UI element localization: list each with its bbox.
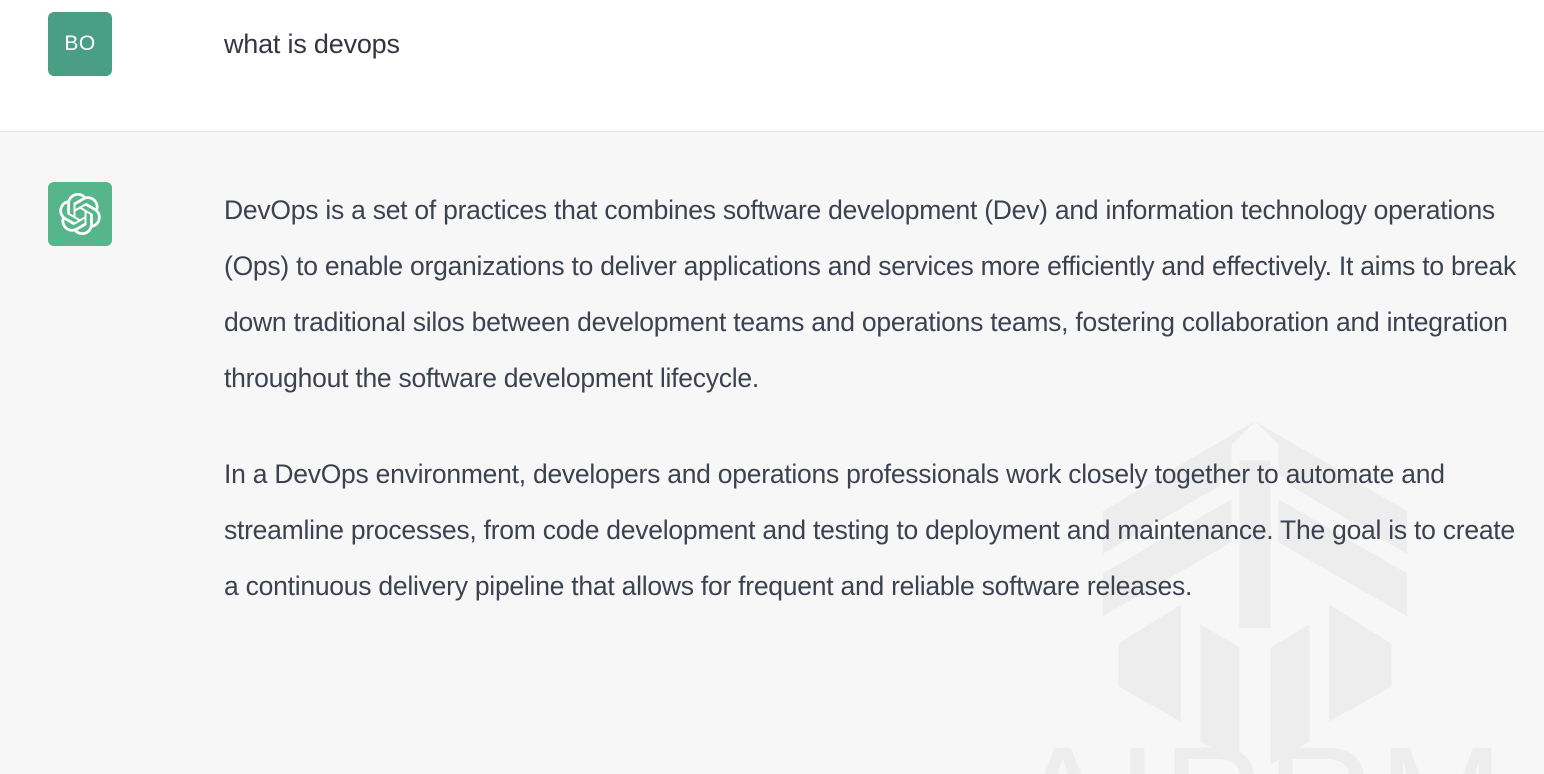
assistant-paragraph-1: DevOps is a set of practices that combin… <box>224 182 1520 406</box>
user-initials-avatar: BO <box>48 12 112 76</box>
avatar-slot-user: BO <box>0 12 112 76</box>
user-message-content: what is devops <box>112 12 1544 60</box>
user-message-text: what is devops <box>224 12 1520 60</box>
chat-conversation-view: BO what is devops DevOps is a set of pra… <box>0 0 1544 774</box>
avatar-slot-assistant <box>0 182 112 246</box>
aiprm-wordmark: AIPRM <box>990 724 1530 774</box>
assistant-message-content: DevOps is a set of practices that combin… <box>112 182 1544 614</box>
avatar-initials-label: BO <box>64 32 95 56</box>
message-row-user: BO what is devops <box>0 0 1544 131</box>
openai-logo-icon <box>48 182 112 246</box>
message-row-assistant: DevOps is a set of practices that combin… <box>0 131 1544 774</box>
assistant-paragraph-2: In a DevOps environment, developers and … <box>224 446 1520 614</box>
